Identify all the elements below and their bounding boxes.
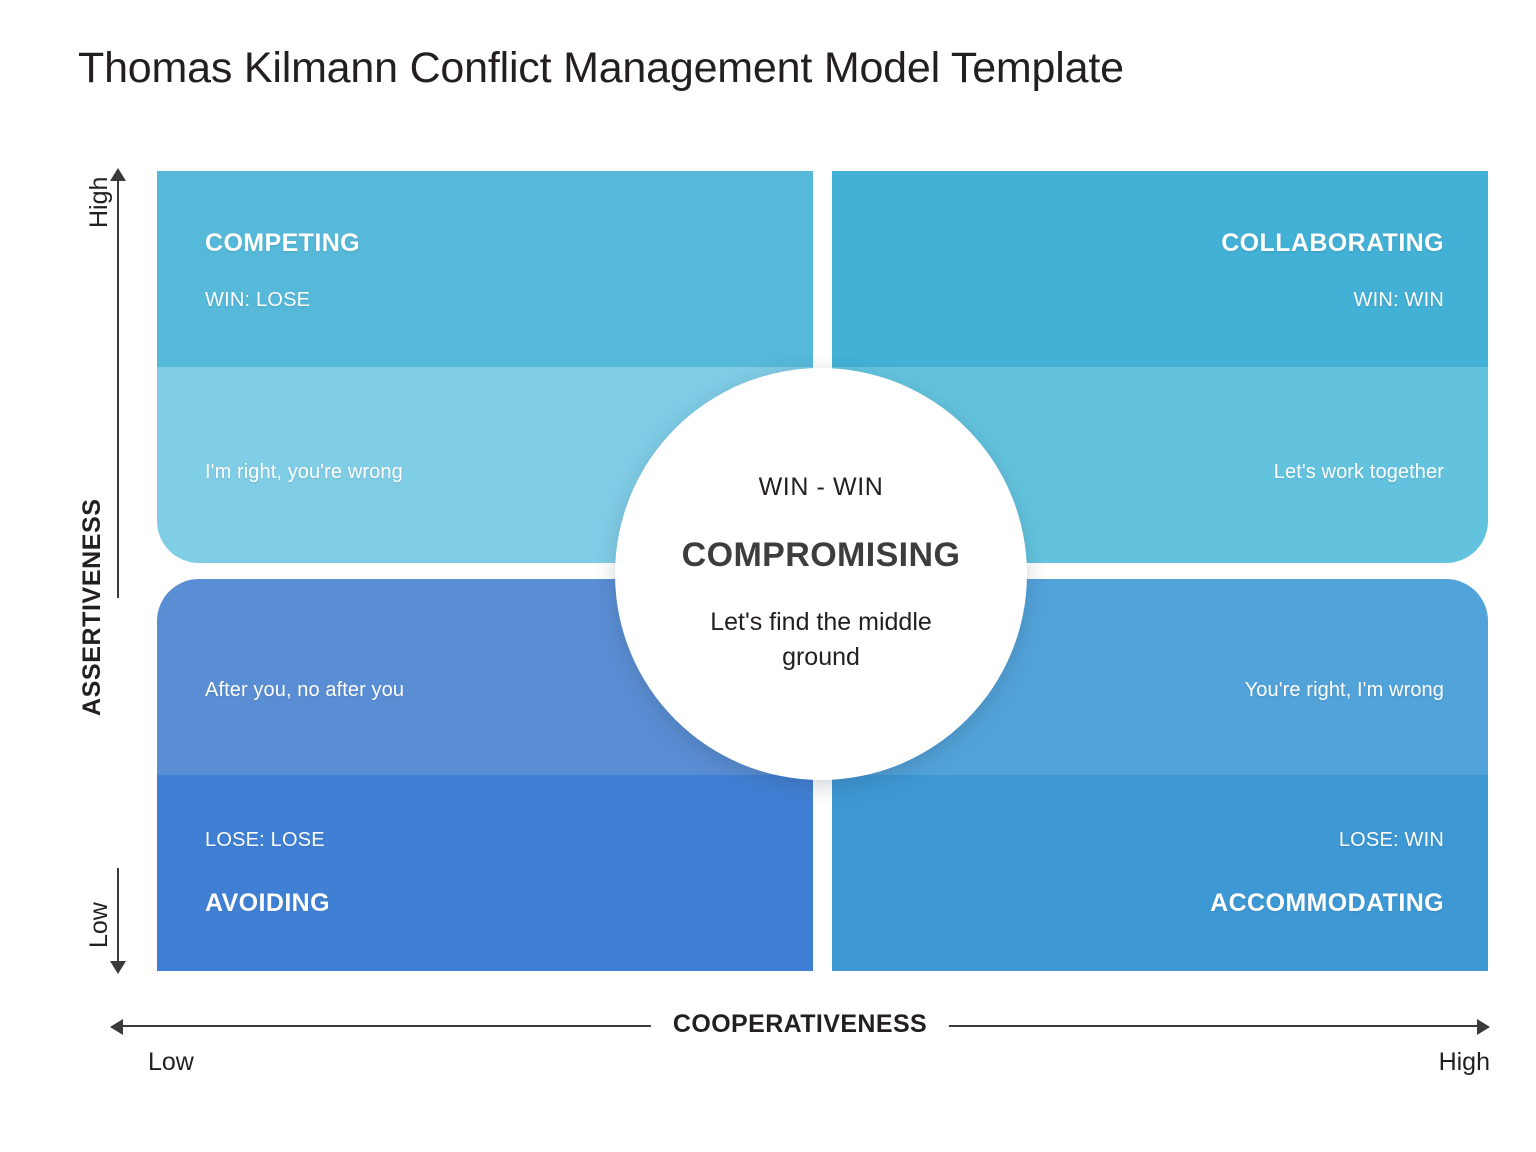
strategy-name-avoiding: AVOIDING — [205, 889, 330, 917]
page-title: Thomas Kilmann Conflict Management Model… — [78, 44, 1124, 93]
center-title: COMPROMISING — [682, 536, 961, 575]
diagram-canvas: Thomas Kilmann Conflict Management Model… — [0, 0, 1536, 1152]
strategy-outcome-collaborating: WIN: WIN — [1354, 289, 1444, 311]
x-axis-arrow-right-icon — [1477, 1019, 1490, 1035]
strategy-quote-avoiding: After you, no after you — [205, 679, 404, 701]
y-axis-arrow-down-icon — [110, 961, 126, 974]
quadrant-accommodating-band-dark — [832, 775, 1488, 971]
strategy-name-accommodating: ACCOMMODATING — [1210, 889, 1444, 917]
strategy-name-competing: COMPETING — [205, 229, 360, 257]
strategy-outcome-accommodating: LOSE: WIN — [1339, 829, 1444, 851]
strategy-outcome-competing: WIN: LOSE — [205, 289, 310, 311]
strategy-outcome-avoiding: LOSE: LOSE — [205, 829, 325, 851]
y-axis-label-mask — [106, 598, 130, 868]
center-description: Let's find the middle ground — [691, 605, 951, 676]
quadrant-matrix: COMPETING WIN: LOSE I'm right, you're wr… — [157, 171, 1488, 971]
x-axis-tick-high: High — [1439, 1048, 1490, 1077]
quadrant-competing-band-dark — [157, 171, 813, 367]
x-axis: COOPERATIVENESS Low High — [110, 1004, 1490, 1084]
quadrant-avoiding-band-dark — [157, 775, 813, 971]
center-circle-compromising[interactable]: WIN - WIN COMPROMISING Let's find the mi… — [615, 368, 1027, 780]
strategy-quote-competing: I'm right, you're wrong — [205, 461, 403, 483]
quadrant-collaborating-band-dark — [832, 171, 1488, 367]
y-axis-tick-high: High — [85, 177, 114, 228]
y-axis-tick-low: Low — [85, 902, 114, 948]
center-tagline: WIN - WIN — [759, 473, 884, 502]
x-axis-arrow-left-icon — [110, 1019, 123, 1035]
strategy-quote-collaborating: Let's work together — [1274, 461, 1444, 483]
x-axis-label: COOPERATIVENESS — [651, 1010, 949, 1039]
y-axis: High ASSERTIVENESS Low — [84, 168, 158, 974]
strategy-quote-accommodating: You're right, I'm wrong — [1245, 679, 1444, 701]
x-axis-tick-low: Low — [148, 1048, 194, 1077]
y-axis-label: ASSERTIVENESS — [78, 498, 107, 716]
strategy-name-collaborating: COLLABORATING — [1221, 229, 1444, 257]
